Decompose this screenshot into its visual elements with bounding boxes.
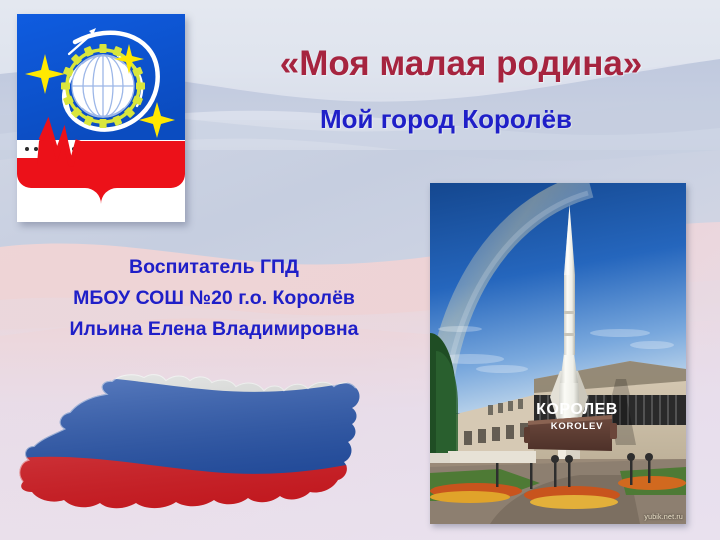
- korolev-rocket-monument-photo: КОРОЛЕВ KOROLEV yubik.net.ru: [430, 183, 686, 524]
- coat-of-arms-korolev: [17, 14, 185, 222]
- author-role: Воспитатель ГПД: [8, 252, 420, 283]
- author-block: Воспитатель ГПД МБОУ СОШ №20 г.о. Королё…: [8, 252, 420, 345]
- monument-sign-en: KOROLEV: [522, 421, 632, 432]
- photo-watermark: yubik.net.ru: [644, 514, 683, 521]
- slide-subtitle: Мой город Королёв: [206, 104, 686, 135]
- russia-flag-map: [2, 350, 372, 530]
- author-school: МБОУ СОШ №20 г.о. Королёв: [8, 283, 420, 314]
- author-name: Ильина Елена Владимировна: [8, 314, 420, 345]
- slide-title: «Моя малая родина»: [206, 44, 716, 84]
- monument-sign-ru: КОРОЛЕВ: [522, 401, 632, 419]
- presentation-slide: «Моя малая родина» Мой город Королёв Вос…: [0, 0, 720, 540]
